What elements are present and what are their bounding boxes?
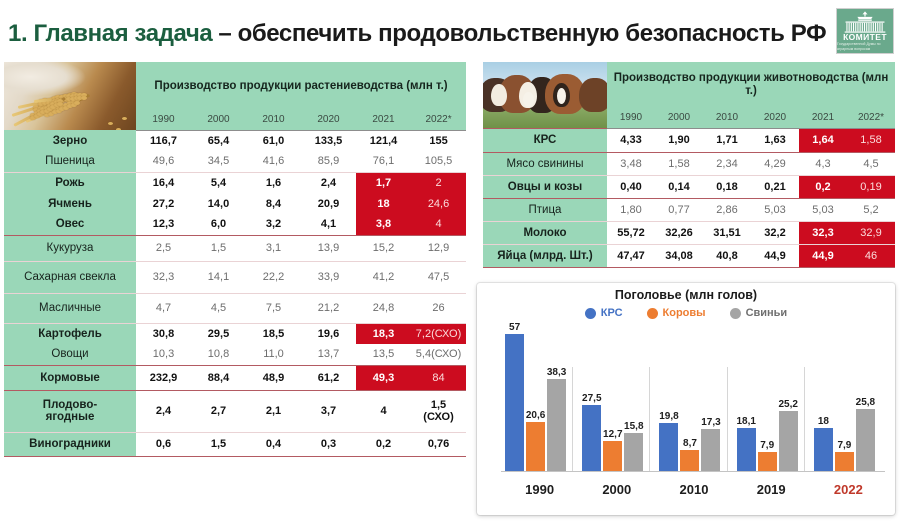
cell-value: 5,4(СХО) — [411, 344, 466, 365]
table-header-title: Производство продукции животноводства (м… — [607, 62, 895, 108]
chart-x-tick-2000: 2000 — [578, 482, 655, 497]
cell-value: 20,9 — [301, 193, 356, 214]
cell-value: 2,4 — [301, 172, 356, 193]
duma-building-icon — [839, 11, 891, 33]
page-title-rest: – обеспечить продовольственную безопасно… — [218, 20, 826, 48]
cell-value: 1,5 — [191, 432, 246, 456]
cell-value: 84 — [411, 365, 466, 390]
cell-value: 3,8 — [356, 214, 411, 235]
cell-value: 44,9 — [799, 244, 847, 267]
cell-value: 22,2 — [246, 261, 301, 293]
table-header-year-1990: 1990 — [607, 108, 655, 128]
chart-bar-label: 7,9 — [760, 440, 774, 451]
chart-bar-Свиньи-2010: 17,3 — [701, 429, 720, 471]
cell-value: 11,0 — [246, 344, 301, 365]
table-row: Виноградники0,61,50,40,30,20,76 — [4, 432, 466, 456]
legend-item-КРС: КРС — [585, 307, 623, 319]
cell-value: 3,2 — [246, 214, 301, 235]
table-row: Рожь16,45,41,62,41,72 — [4, 172, 466, 193]
chart-bar-Свиньи-2019: 25,2 — [779, 411, 798, 471]
cell-value: 3,7 — [301, 390, 356, 432]
chart-bar-Свиньи-1990: 38,3 — [547, 379, 566, 471]
cell-value: 6,0 — [191, 214, 246, 235]
cell-value: 0,2 — [356, 432, 411, 456]
cell-value: 12,9 — [411, 235, 466, 261]
legend-item-Свиньи: Свиньи — [730, 307, 788, 319]
logo-name: КОМИТЕТ — [843, 33, 887, 42]
cell-value: 4,7 — [136, 293, 191, 323]
cell-value: 2,34 — [703, 152, 751, 175]
chart-bar-label: 18 — [818, 416, 829, 427]
cell-value: 40,8 — [703, 244, 751, 267]
cell-value: 2,1 — [246, 390, 301, 432]
table-row: Сахарная свекла32,314,122,233,941,247,5 — [4, 261, 466, 293]
cell-value: 32,2 — [751, 221, 799, 244]
cell-value: 2 — [411, 172, 466, 193]
chart-group-separator — [804, 367, 805, 471]
chart-bar-Коровы-2022: 7,9 — [835, 452, 854, 471]
cell-value: 32,9 — [847, 221, 895, 244]
cell-value: 1,5 — [191, 235, 246, 261]
table-header-year-2000: 2000 — [655, 108, 703, 128]
cell-value: 13,9 — [301, 235, 356, 261]
cell-value: 32,26 — [655, 221, 703, 244]
table-row: Кормовые232,988,448,961,249,384 — [4, 365, 466, 390]
cell-value: 21,2 — [301, 293, 356, 323]
chart-bar-КРС-2022: 18 — [814, 428, 833, 471]
chart-bar-label: 57 — [509, 322, 520, 333]
row-label: Виноградники — [4, 432, 136, 456]
chart-x-axis-line — [501, 471, 885, 472]
cell-value: 10,8 — [191, 344, 246, 365]
table-row: КРС4,331,901,711,631,641,58 — [483, 128, 895, 152]
cell-value: 1,64 — [799, 128, 847, 152]
cell-value: 5,03 — [799, 198, 847, 221]
cell-value: 65,4 — [191, 130, 246, 151]
table-row: Кукуруза2,51,53,113,915,212,9 — [4, 235, 466, 261]
cell-value: 1,63 — [751, 128, 799, 152]
cell-value: 0,76 — [411, 432, 466, 456]
cell-value: 3,1 — [246, 235, 301, 261]
table-row: Яйца (млрд. Шт.)47,4734,0840,844,944,946 — [483, 244, 895, 267]
row-label: Мясо свинины — [483, 152, 607, 175]
cell-value: 13,5 — [356, 344, 411, 365]
chart-bar-КРС-1990: 57 — [505, 334, 524, 471]
cell-value: 0,3 — [301, 432, 356, 456]
cell-value: 0,6 — [136, 432, 191, 456]
cell-value: 29,5 — [191, 323, 246, 344]
chart-bar-Коровы-2019: 7,9 — [758, 452, 777, 471]
table-row: Масличные4,74,57,521,224,826 — [4, 293, 466, 323]
cell-value: 1,7 — [356, 172, 411, 193]
cows-image-cell — [483, 62, 607, 128]
row-label: КРС — [483, 128, 607, 152]
chart-x-tick-1990: 1990 — [501, 482, 578, 497]
table-row: Овцы и козы0,400,140,180,210,20,19 — [483, 175, 895, 198]
table-header-year-2022: 2022* — [411, 110, 466, 130]
chart-bar-label: 25,2 — [778, 399, 797, 410]
cell-value: 116,7 — [136, 130, 191, 151]
table-header-year-2022: 2022* — [847, 108, 895, 128]
cell-value: 61,2 — [301, 365, 356, 390]
chart-group-2000: 27,512,715,8 — [578, 327, 655, 471]
row-label: Рожь — [4, 172, 136, 193]
cell-value: 76,1 — [356, 151, 411, 172]
table-row: Мясо свинины3,481,582,344,294,34,5 — [483, 152, 895, 175]
chart-bar-Коровы-2010: 8,7 — [680, 450, 699, 471]
cell-value: 0,77 — [655, 198, 703, 221]
chart-bar-label: 27,5 — [582, 393, 601, 404]
cell-value: 1,80 — [607, 198, 655, 221]
cell-value: 15,2 — [356, 235, 411, 261]
cell-value: 1,71 — [703, 128, 751, 152]
chart-bar-Свиньи-2000: 15,8 — [624, 433, 643, 471]
row-label: Масличные — [4, 293, 136, 323]
cell-value: 41,6 — [246, 151, 301, 172]
chart-group-separator — [572, 367, 573, 471]
cell-value: 133,5 — [301, 130, 356, 151]
cell-value: 13,7 — [301, 344, 356, 365]
cows-photo — [483, 62, 607, 128]
chart-x-tick-2019: 2019 — [733, 482, 810, 497]
cell-value: 1,58 — [847, 128, 895, 152]
legend-swatch-icon — [730, 308, 741, 319]
cell-value: 49,3 — [356, 365, 411, 390]
chart-bar-label: 12,7 — [603, 429, 622, 440]
cell-value: 1,5(СХО) — [411, 390, 466, 432]
cell-value: 121,4 — [356, 130, 411, 151]
table-row: Пшеница49,634,541,685,976,1105,5 — [4, 151, 466, 172]
table-header-year-2021: 2021 — [799, 108, 847, 128]
cell-value: 155 — [411, 130, 466, 151]
cell-value: 24,8 — [356, 293, 411, 323]
cell-value: 19,6 — [301, 323, 356, 344]
cell-value: 4,1 — [301, 214, 356, 235]
cell-value: 5,4 — [191, 172, 246, 193]
row-label: Кормовые — [4, 365, 136, 390]
cell-value: 24,6 — [411, 193, 466, 214]
cell-value: 47,47 — [607, 244, 655, 267]
cell-value: 88,4 — [191, 365, 246, 390]
chart-bar-label: 15,8 — [624, 421, 643, 432]
row-label: Овощи — [4, 344, 136, 365]
cell-value: 4 — [356, 390, 411, 432]
cell-value: 10,3 — [136, 344, 191, 365]
cell-value: 8,4 — [246, 193, 301, 214]
chart-bar-label: 25,8 — [856, 397, 875, 408]
cell-value: 105,5 — [411, 151, 466, 172]
cell-value: 48,9 — [246, 365, 301, 390]
cell-value: 85,9 — [301, 151, 356, 172]
row-label: Птица — [483, 198, 607, 221]
cell-value: 5,2 — [847, 198, 895, 221]
table-row: Зерно116,765,461,0133,5121,4155 — [4, 130, 466, 151]
chart-bar-Свиньи-2022: 25,8 — [856, 409, 875, 471]
cell-value: 18,5 — [246, 323, 301, 344]
cell-value: 0,19 — [847, 175, 895, 198]
cell-value: 3,48 — [607, 152, 655, 175]
table-row: Плодово-ягодные2,42,72,13,741,5(СХО) — [4, 390, 466, 432]
chart-x-tick-2022: 2022 — [810, 482, 887, 497]
table-header-year-2010: 2010 — [246, 110, 301, 130]
row-label: Ячмень — [4, 193, 136, 214]
cell-value: 1,90 — [655, 128, 703, 152]
cell-value: 1,6 — [246, 172, 301, 193]
livestock-headcount-chart: Поголовье (млн голов) КРСКоровыСвиньи 57… — [477, 283, 895, 515]
cell-value: 47,5 — [411, 261, 466, 293]
logo-subtitle: Государственной Думы по аграрным вопроса… — [837, 42, 893, 52]
crop-production-table: Производство продукции растениеводства (… — [4, 62, 466, 457]
chart-bar-КРС-2010: 19,8 — [659, 423, 678, 471]
cell-value: 34,08 — [655, 244, 703, 267]
cell-value: 16,4 — [136, 172, 191, 193]
cell-value: 12,3 — [136, 214, 191, 235]
chart-x-tick-2010: 2010 — [655, 482, 732, 497]
table-row: Овес12,36,03,24,13,84 — [4, 214, 466, 235]
wheat-image-cell — [4, 62, 136, 130]
cell-value: 0,18 — [703, 175, 751, 198]
cell-value: 4,29 — [751, 152, 799, 175]
row-label: Яйца (млрд. Шт.) — [483, 244, 607, 267]
chart-group-separator — [727, 367, 728, 471]
chart-bar-Коровы-2000: 12,7 — [603, 441, 622, 471]
table-header-title: Производство продукции растениеводства (… — [136, 62, 466, 110]
cell-value: 18 — [356, 193, 411, 214]
chart-bar-label: 19,8 — [659, 411, 678, 422]
committee-logo: КОМИТЕТ Государственной Думы по аграрным… — [836, 8, 894, 54]
table-header-year-2010: 2010 — [703, 108, 751, 128]
chart-group-1990: 5720,638,3 — [501, 327, 578, 471]
legend-item-Коровы: Коровы — [647, 307, 706, 319]
row-label: Молоко — [483, 221, 607, 244]
cell-value: 0,4 — [246, 432, 301, 456]
crop-table: Производство продукции растениеводства (… — [4, 62, 466, 457]
chart-bar-label: 18,1 — [736, 416, 755, 427]
cell-value: 7,2(СХО) — [411, 323, 466, 344]
table-header-year-2020: 2020 — [751, 108, 799, 128]
cell-value: 0,21 — [751, 175, 799, 198]
row-label: Картофель — [4, 323, 136, 344]
cell-value: 27,2 — [136, 193, 191, 214]
page-title-highlight: 1. Главная задача — [8, 20, 212, 48]
chart-bar-label: 20,6 — [526, 410, 545, 421]
cell-value: 0,2 — [799, 175, 847, 198]
cell-value: 33,9 — [301, 261, 356, 293]
cell-value: 26 — [411, 293, 466, 323]
row-label: Овцы и козы — [483, 175, 607, 198]
cell-value: 61,0 — [246, 130, 301, 151]
cell-value: 32,3 — [136, 261, 191, 293]
cell-value: 4 — [411, 214, 466, 235]
legend-label: КРС — [601, 307, 623, 319]
legend-swatch-icon — [647, 308, 658, 319]
row-label: Пшеница — [4, 151, 136, 172]
cell-value: 4,33 — [607, 128, 655, 152]
cell-value: 18,3 — [356, 323, 411, 344]
chart-group-2022: 187,925,8 — [810, 327, 887, 471]
wheat-photo — [4, 62, 136, 130]
chart-group-separator — [649, 367, 650, 471]
cell-value: 44,9 — [751, 244, 799, 267]
chart-plot-area: 5720,638,327,512,715,819,88,717,318,17,9… — [501, 327, 887, 471]
cell-value: 2,7 — [191, 390, 246, 432]
chart-bar-Коровы-1990: 20,6 — [526, 422, 545, 471]
table-header-year-2021: 2021 — [356, 110, 411, 130]
cell-value: 0,40 — [607, 175, 655, 198]
legend-label: Коровы — [663, 307, 706, 319]
cell-value: 4,5 — [191, 293, 246, 323]
table-row: Птица1,800,772,865,035,035,2 — [483, 198, 895, 221]
cell-value: 30,8 — [136, 323, 191, 344]
chart-bar-label: 7,9 — [837, 440, 851, 451]
livestock-production-table: Производство продукции животноводства (м… — [483, 62, 895, 268]
chart-legend: КРСКоровыСвиньи — [477, 307, 895, 319]
cell-value: 2,5 — [136, 235, 191, 261]
row-label: Овес — [4, 214, 136, 235]
chart-bar-КРС-2000: 27,5 — [582, 405, 601, 471]
legend-swatch-icon — [585, 308, 596, 319]
row-label: Кукуруза — [4, 235, 136, 261]
row-label: Зерно — [4, 130, 136, 151]
table-header-year-1990: 1990 — [136, 110, 191, 130]
cell-value: 31,51 — [703, 221, 751, 244]
cell-value: 14,1 — [191, 261, 246, 293]
chart-group-2019: 18,17,925,2 — [733, 327, 810, 471]
cell-value: 34,5 — [191, 151, 246, 172]
table-row: Овощи10,310,811,013,713,55,4(СХО) — [4, 344, 466, 365]
row-label: Сахарная свекла — [4, 261, 136, 293]
cell-value: 46 — [847, 244, 895, 267]
chart-bar-label: 38,3 — [547, 367, 566, 378]
cell-value: 55,72 — [607, 221, 655, 244]
cell-value: 41,2 — [356, 261, 411, 293]
table-header-year-2000: 2000 — [191, 110, 246, 130]
cell-value: 7,5 — [246, 293, 301, 323]
table-header-year-2020: 2020 — [301, 110, 356, 130]
cell-value: 32,3 — [799, 221, 847, 244]
cell-value: 0,14 — [655, 175, 703, 198]
table-row: Ячмень27,214,08,420,91824,6 — [4, 193, 466, 214]
cell-value: 4,5 — [847, 152, 895, 175]
cell-value: 2,4 — [136, 390, 191, 432]
cell-value: 2,86 — [703, 198, 751, 221]
slide-root: 1. Главная задача – обеспечить продоволь… — [0, 0, 900, 521]
cell-value: 49,6 — [136, 151, 191, 172]
table-row: Молоко55,7232,2631,5132,232,332,9 — [483, 221, 895, 244]
chart-bar-КРС-2019: 18,1 — [737, 428, 756, 471]
page-title: 1. Главная задача – обеспечить продоволь… — [8, 16, 834, 52]
row-label: Плодово-ягодные — [4, 390, 136, 432]
cell-value: 232,9 — [136, 365, 191, 390]
cell-value: 5,03 — [751, 198, 799, 221]
chart-group-2010: 19,88,717,3 — [655, 327, 732, 471]
livestock-table: Производство продукции животноводства (м… — [483, 62, 895, 268]
cell-value: 1,58 — [655, 152, 703, 175]
cell-value: 14,0 — [191, 193, 246, 214]
legend-label: Свиньи — [746, 307, 788, 319]
chart-bar-label: 17,3 — [701, 417, 720, 428]
chart-bar-label: 8,7 — [683, 438, 697, 449]
chart-title: Поголовье (млн голов) — [477, 288, 895, 302]
cell-value: 4,3 — [799, 152, 847, 175]
table-row: Картофель30,829,518,519,618,37,2(СХО) — [4, 323, 466, 344]
